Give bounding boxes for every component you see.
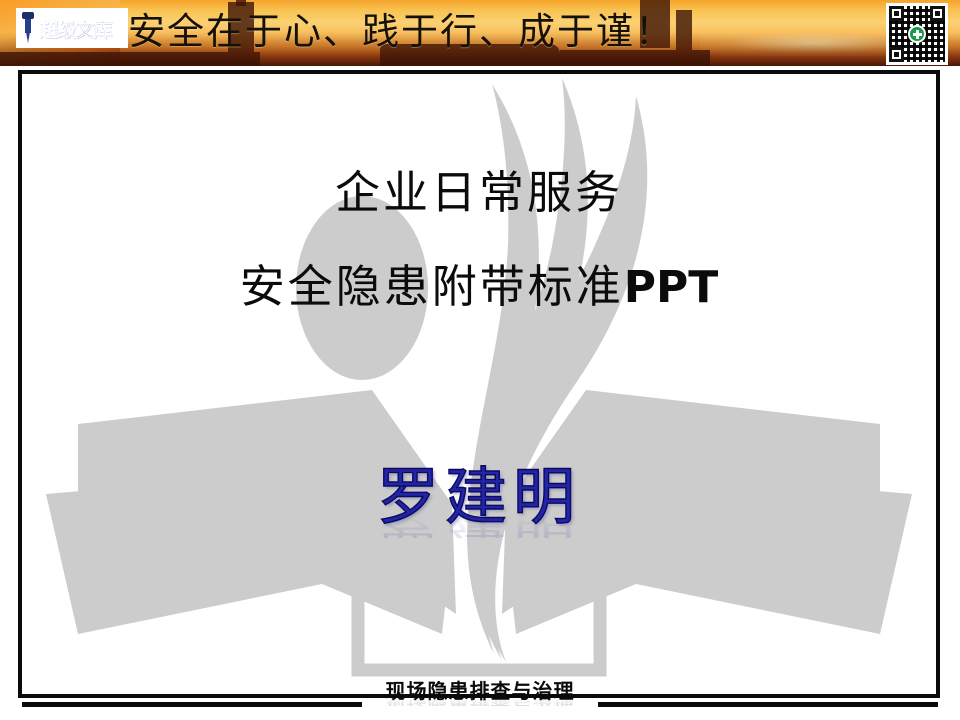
qr-finder-top-right [930,6,945,21]
page-title-line-2: 安全隐患附带标准PPT [22,256,936,319]
author-name-reflection: 罗建明 [22,516,936,538]
slide-stage: 安全在于心、践于行、成于谨！ 超级文库 [0,0,960,720]
footer-label-reflection: 现场隐患排查与治理 [0,698,960,706]
footer-text-wrap: 现场隐患排查与治理 现场隐患排查与治理 [0,676,960,720]
green-plus-badge-icon [908,25,926,43]
slide-footer: 现场隐患排查与治理 现场隐患排查与治理 [0,674,960,720]
watermark-book-stand [358,582,600,670]
watermark-banner: 安全在于心、践于行、成于谨！ 超级文库 [0,0,960,66]
fountain-pen-icon [18,10,38,46]
qr-finder-top-left [889,6,904,21]
slide-content-frame: 企业日常服务 安全隐患附带标准PPT 罗建明 罗建明 [18,70,940,698]
site-logo[interactable]: 超级文库 [16,8,128,48]
page-title-line-1: 企业日常服务 [22,162,936,224]
qr-code-modules [889,6,945,62]
banner-slogan: 安全在于心、践于行、成于谨！ [128,8,674,56]
slide-title: 企业日常服务 安全隐患附带标准PPT [22,162,936,319]
qr-code-icon[interactable] [886,3,948,65]
page-title-line-2-cn: 安全隐患附带标准 [240,260,624,313]
page-title-line-2-en: PPT [624,262,719,313]
qr-finder-bottom-left [889,47,904,62]
author-block: 罗建明 罗建明 [22,460,936,578]
site-logo-label: 超级文库 [39,15,111,42]
